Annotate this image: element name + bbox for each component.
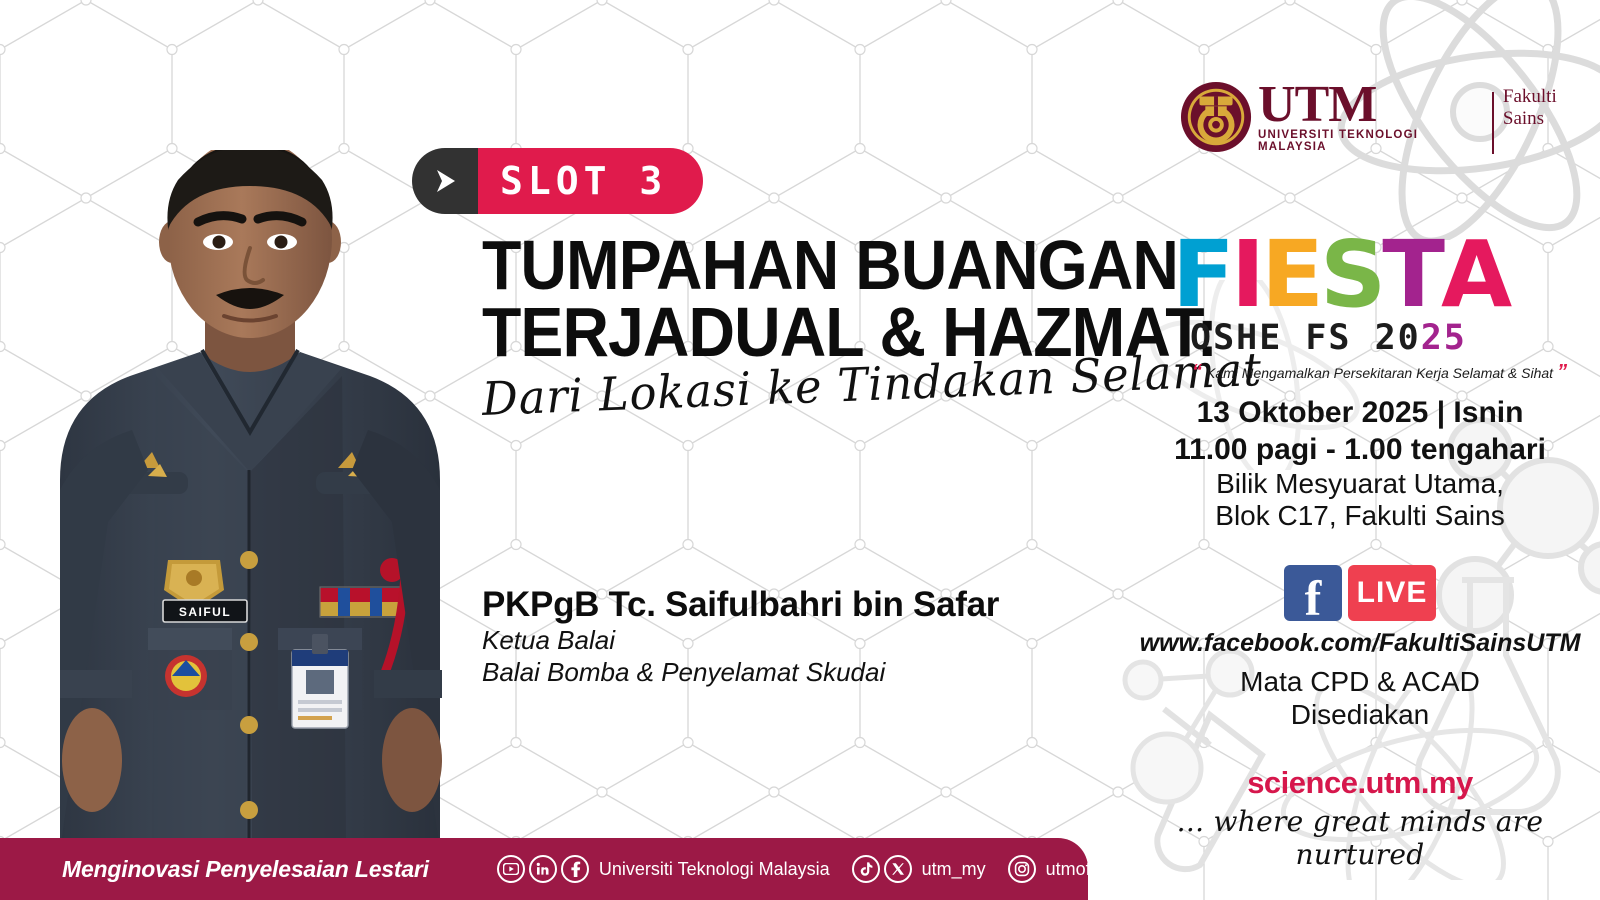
facebook-icon[interactable]: f [1284,565,1342,621]
fiesta-letter-a: A [1441,235,1508,316]
social-group-utm: Universiti Teknologi Malaysia [497,855,852,883]
quote-close-icon: ” [1553,361,1571,384]
fiesta-letter-f: F [1172,235,1231,316]
utm-logo: UTM UNIVERSITI TEKNOLOGI MALAYSIA Fakult… [1180,80,1600,154]
event-time: 11.00 pagi - 1.00 tengahari [1120,432,1600,469]
fiesta-letters: F I E S T A [1172,220,1571,316]
broadcast-badges: f LIVE [1120,565,1600,621]
footer-bar: Menginovasi Penyelesaian Lestari [0,838,1088,900]
right-info-column: UTM UNIVERSITI TEKNOLOGI MALAYSIA Fakult… [1120,0,1600,900]
play-triangle-icon [412,148,478,214]
fiesta-letter-t: T [1382,235,1441,316]
utm-faculty: Fakulti Sains [1503,86,1600,130]
instagram-icon[interactable] [1008,855,1036,883]
social-handle-utm: Universiti Teknologi Malaysia [599,859,830,880]
poster-canvas: SAIFUL [0,0,1600,900]
fiesta-subtitle: OSHE FS 20 25 [1190,318,1571,358]
fiesta-logo: F I E S T A OSHE FS 20 25 “ Kami Mengama… [1172,220,1571,384]
broadcast-block: f LIVE www.facebook.com/FakultiSainsUTM [1120,565,1600,658]
fiesta-tagline-row: “ Kami Mengamalkan Persekitaran Kerja Se… [1188,361,1571,384]
fiesta-letter-s: S [1320,235,1382,316]
social-group-utmofficial: utmofficial [1008,855,1149,883]
slot-label: SLOT 3 [500,159,667,203]
tiktok-icon[interactable] [852,855,880,883]
facebook-letter: f [1305,573,1322,623]
social-handle-utmofficial: utmofficial [1046,859,1127,880]
credits-line-2: Disediakan [1120,698,1600,731]
utm-subtitle: UNIVERSITI TEKNOLOGI MALAYSIA [1258,129,1485,153]
fiesta-letter-e: E [1261,235,1320,316]
linkedin-icon[interactable] [529,855,557,883]
credits-block: Mata CPD & ACAD Disediakan [1120,665,1600,731]
utm-wordmark-block: UTM UNIVERSITI TEKNOLOGI MALAYSIA [1258,81,1485,154]
website-block: science.utm.my ... where great minds are… [1120,765,1600,871]
facebook-url[interactable]: www.facebook.com/FakultiSainsUTM [1120,629,1600,658]
slot-label-container: SLOT 3 [478,148,703,214]
event-venue-line2: Blok C17, Fakulti Sains [1120,500,1600,532]
event-date: 13 Oktober 2025 | Isnin [1120,395,1600,432]
title-line-1: TUMPAHAN BUANGAN [482,232,1052,299]
fiesta-letter-i: I [1231,235,1261,316]
quote-open-icon: “ [1188,361,1206,384]
speaker-photo: SAIFUL [20,150,490,850]
fiesta-subtitle-black: OSHE FS 20 [1190,318,1421,358]
speaker-role: Ketua Balai [482,625,999,657]
slot-badge: SLOT 3 [412,148,703,214]
speaker-name: PKPgB Tc. Saifulbahri bin Safar [482,585,999,625]
svg-text:SAIFUL: SAIFUL [179,605,231,619]
fiesta-tagline: Kami Mengamalkan Persekitaran Kerja Sela… [1206,365,1553,381]
social-handle-utmmy: utm_my [922,859,986,880]
utm-crest-icon [1180,80,1252,154]
youtube-icon[interactable] [497,855,525,883]
facebook-icon[interactable] [561,855,589,883]
footer-tagline: Menginovasi Penyelesaian Lestari [62,856,429,883]
live-badge: LIVE [1348,565,1436,621]
fiesta-subtitle-year: 25 [1421,318,1467,358]
website-tagline: ... where great minds are nurtured [1120,805,1600,871]
live-label: LIVE [1357,576,1428,610]
social-group-utmmy: utm_my [852,855,1008,883]
speaker-organisation: Balai Bomba & Penyelamat Skudai [482,657,999,689]
logo-divider [1492,92,1494,154]
x-twitter-icon[interactable] [884,855,912,883]
event-details: 13 Oktober 2025 | Isnin 11.00 pagi - 1.0… [1120,395,1600,533]
speaker-block: PKPgB Tc. Saifulbahri bin Safar Ketua Ba… [482,585,999,688]
title-block: TUMPAHAN BUANGAN TERJADUAL & HAZMAT: Dar… [482,232,1102,426]
utm-wordmark: UTM [1258,81,1485,129]
credits-line-1: Mata CPD & ACAD [1120,665,1600,698]
website-url[interactable]: science.utm.my [1120,765,1600,801]
event-venue-line1: Bilik Mesyuarat Utama, [1120,468,1600,500]
